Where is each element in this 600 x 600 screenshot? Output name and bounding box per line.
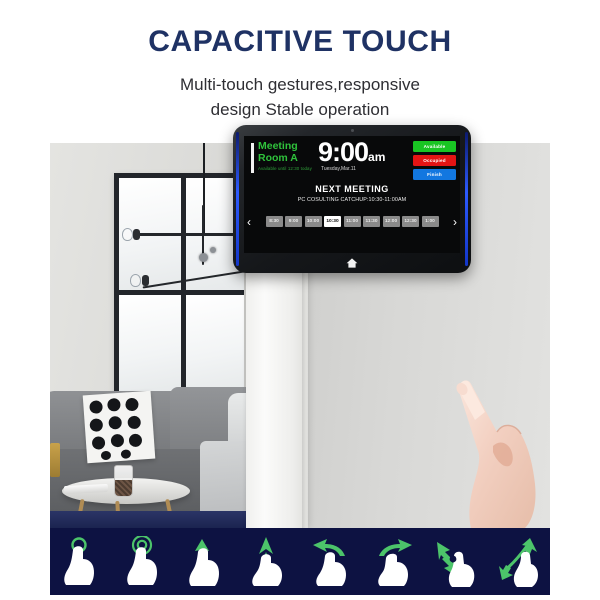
swipe-up-gesture-icon <box>175 528 238 595</box>
lamp-glass <box>122 228 133 241</box>
room-name-line-2: Room A <box>258 153 298 165</box>
status-button-finish[interactable]: Finish <box>413 169 456 180</box>
tap-gesture-icon <box>50 528 113 595</box>
glass-jar <box>114 465 133 497</box>
time-slot[interactable]: 11:30 <box>363 216 380 227</box>
subtitle-line-1: Multi-touch gestures,responsive <box>0 73 600 98</box>
page-subtitle: Multi-touch gestures,responsive design S… <box>0 57 600 122</box>
screen-header: Meeting Room A Available until 12:30 tod… <box>244 139 460 181</box>
next-meeting-heading: NEXT MEETING <box>244 184 460 194</box>
pinch-in-gesture-icon <box>425 528 488 595</box>
window-mullion <box>119 290 239 295</box>
clock-ampm: am <box>368 150 385 164</box>
lamp-bulb <box>142 275 149 286</box>
time-slot[interactable]: 10:30 <box>324 216 341 227</box>
status-button-group: Available Occupied Finish <box>413 141 456 183</box>
tablet-led-strip-left <box>236 132 239 266</box>
clock-time: 9:00 <box>318 137 368 167</box>
time-slot[interactable]: 8:30 <box>266 216 283 227</box>
window-pane <box>119 295 181 393</box>
swipe-right-gesture-icon <box>363 528 426 595</box>
flick-up-gesture-icon <box>238 528 301 595</box>
room-name-line-1: Meeting <box>258 141 298 153</box>
tablet-led-strip-right <box>465 132 468 266</box>
home-icon[interactable] <box>346 258 358 268</box>
page-title: CAPACITIVE TOUCH <box>0 0 600 57</box>
lamp-bulb <box>133 229 140 240</box>
room-accent-bar <box>251 143 254 173</box>
swipe-left-gesture-icon <box>300 528 363 595</box>
room-name: Meeting Room A <box>258 141 298 164</box>
polka-dot-pillow <box>83 391 156 464</box>
front-camera-icon <box>351 129 354 132</box>
pinch-out-gesture-icon <box>488 528 551 595</box>
time-slot[interactable]: 12:30 <box>402 216 419 227</box>
double-tap-gesture-icon <box>113 528 176 595</box>
time-slot[interactable]: 11:00 <box>344 216 361 227</box>
window-pane <box>186 295 244 393</box>
decor-object <box>50 443 60 477</box>
room-availability-text: Available until 12:30 today <box>258 166 312 171</box>
time-slot[interactable]: 9:00 <box>285 216 302 227</box>
next-slot-arrow-icon[interactable]: › <box>453 214 457 229</box>
tablet-screen[interactable]: Meeting Room A Available until 12:30 tod… <box>244 136 460 253</box>
lamp-glass <box>130 274 141 287</box>
clock: 9:00am <box>318 139 385 166</box>
time-slot[interactable]: 1:00 <box>422 216 439 227</box>
lamp-hub <box>210 247 216 253</box>
status-button-available[interactable]: Available <box>413 141 456 152</box>
next-meeting-detail: PC COSULTING CATCHUP:10:30-11:00AM <box>244 197 460 203</box>
gesture-icon-strip <box>50 528 550 595</box>
clock-date: Tuesday,Mar.11 <box>321 166 356 172</box>
status-button-occupied[interactable]: Occupied <box>413 155 456 166</box>
time-slot[interactable]: 10:00 <box>305 216 322 227</box>
time-slot-strip[interactable]: 8:309:0010:0010:3011:0011:3012:0012:301:… <box>244 214 460 229</box>
subtitle-line-2: design Stable operation <box>0 98 600 123</box>
lamp-hub <box>199 253 208 262</box>
header: CAPACITIVE TOUCH Multi-touch gestures,re… <box>0 0 600 143</box>
meeting-room-tablet[interactable]: Meeting Room A Available until 12:30 tod… <box>233 125 471 273</box>
time-slot[interactable]: 12:00 <box>383 216 400 227</box>
